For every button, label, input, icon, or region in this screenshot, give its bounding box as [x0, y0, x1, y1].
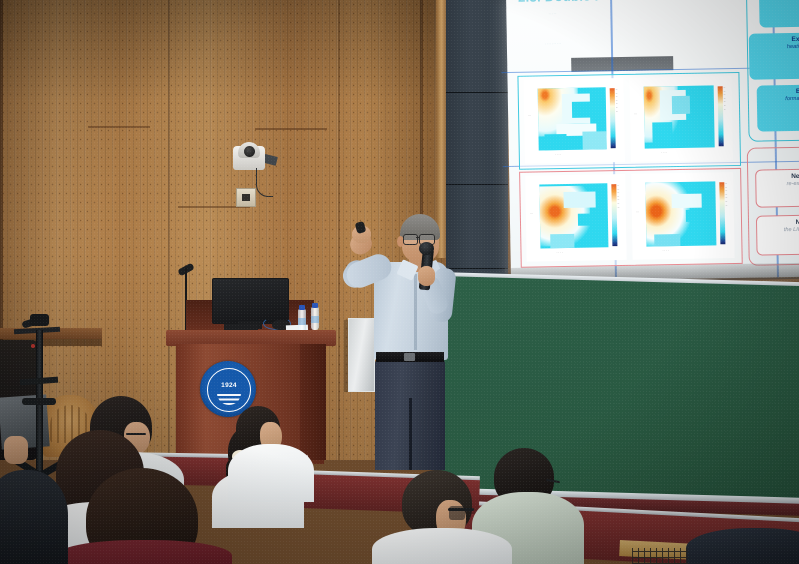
colorbar-ticks: –––––––: [617, 184, 619, 209]
plot-bottom-right: ––––––– ··· · · · ·: [631, 172, 734, 260]
bottle-label: [298, 318, 306, 325]
emblem-inner-disc: 1924: [207, 368, 251, 412]
axis-label: · · · ·: [555, 152, 562, 156]
audience-shoulders: [372, 528, 512, 564]
emblem-year: 1924: [208, 382, 250, 389]
audience-shoulders: [228, 444, 314, 502]
axis-label: · · · ·: [662, 248, 669, 252]
presenter-leg-seam: [409, 398, 412, 470]
tripod-center-column: [36, 330, 43, 480]
axis-label: · · · ·: [661, 150, 668, 154]
colorbar-ticks: –––––––: [725, 182, 727, 207]
audience-hand: [4, 436, 28, 464]
tripod-indicator: [31, 344, 35, 348]
axis-label: ···: [636, 210, 639, 214]
bottle-cap: [312, 303, 318, 308]
water-bottle: [298, 309, 306, 332]
flowchart-red-box-2-sub: the LIP particles by the: [759, 225, 799, 234]
flowchart-red-box-1-sub: re-excitation 1st LIP: [758, 179, 799, 188]
flowchart-box-2-sub: heating of nitrog: [751, 42, 799, 51]
plot-top-right: ––––––– ··· · · · ·: [629, 76, 732, 162]
audience-shoulders: [56, 540, 232, 564]
flowchart-red-box-1: Negligible ex re-excitation 1st LIP: [755, 168, 799, 208]
flowchart-box-3: Exchange formation of from LIP: [757, 84, 799, 132]
flowchart-box-1-sub: air e: [761, 0, 799, 4]
charcoal-acoustic-panel: [446, 0, 508, 296]
slide-title: 2.3. Double P: [518, 0, 604, 5]
flowchart-box-2-title: Exchange: [791, 35, 799, 43]
flowchart-red-box-1-title: Negligible ex: [791, 172, 799, 180]
wall-access-panel: [348, 318, 375, 392]
chalkboard: [434, 276, 799, 512]
plot-top-left: ––––––– ··· · · · ·: [523, 78, 624, 164]
flowchart-red-box-2-title: No exchan: [796, 218, 799, 226]
desk-wire-basket: [632, 548, 688, 564]
camera-cable: [256, 168, 273, 197]
eyeglasses-left-lens: [403, 234, 418, 245]
presenter-right-hand: [418, 266, 435, 286]
axis-label: ···: [528, 114, 531, 118]
microphone-head: [419, 242, 434, 255]
flowchart-box-3-sub: formation of from LIP: [759, 94, 799, 103]
colorbar-ticks: –––––––: [616, 88, 618, 113]
flowchart-box-1: Exchange air e: [759, 0, 799, 28]
emblem-wave-icon: [217, 392, 241, 405]
eyeglasses-bridge: [416, 237, 420, 238]
axis-label: · · · ·: [556, 250, 563, 254]
camera-lens-icon: [244, 146, 255, 157]
tripod-head: [30, 314, 49, 326]
belt-buckle: [404, 353, 415, 361]
eyeglasses-icon: [126, 433, 146, 435]
lecture-hall-photo: 2.3. Double P ····· ·········· ––––––– ·…: [0, 0, 799, 564]
outlet-socket: [242, 194, 250, 201]
colorbar-ticks: –––––––: [724, 86, 726, 111]
slide-faint-label: ··········: [545, 41, 562, 47]
bottle-label: [311, 316, 319, 323]
flowchart-red-box-2: No exchan the LIP particles by the: [756, 214, 799, 256]
bottle-cap: [299, 305, 305, 310]
colorbar: [610, 88, 616, 148]
flowchart-box-2: Exchange heating of nitrog: [749, 32, 799, 80]
plot-bottom-left: ––––––– ··· · · · ·: [525, 174, 626, 262]
chalkboard-texture: [434, 276, 799, 512]
podium-side-panel: [300, 344, 326, 460]
axis-label: ···: [530, 212, 533, 216]
wall-power-outlet: [236, 188, 256, 207]
slide-faint-label: ·····: [548, 11, 556, 17]
shirt-placket: [414, 274, 417, 350]
audience-shoulders: [686, 528, 799, 564]
projection-screen: 2.3. Double P ····· ·········· ––––––– ·…: [506, 0, 799, 282]
slide-flowchart: Exchange air e Exchange heating of nitro…: [746, 0, 799, 270]
eyeglasses-lens-icon: [449, 506, 465, 520]
audience-shoulders: [0, 470, 68, 564]
colorbar: [718, 86, 724, 146]
tripod-collar: [22, 398, 56, 405]
axis-label: ···: [634, 112, 637, 116]
water-bottle: [311, 307, 319, 330]
